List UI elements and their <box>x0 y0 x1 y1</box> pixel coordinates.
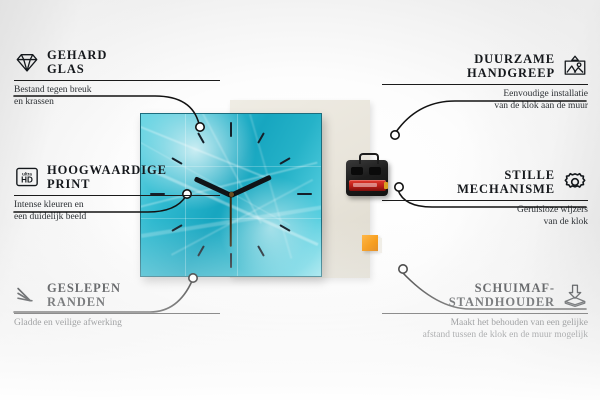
feature-header: DUURZAME HANDGREEP <box>382 52 588 80</box>
clock-hand-second <box>230 195 232 247</box>
feature-gehard-glas: GEHARD GLAS Bestand tegen breuk en krass… <box>14 48 220 108</box>
feature-desc: en krassen <box>14 97 220 109</box>
foam-spacer-side <box>378 238 382 253</box>
feature-desc: van de klok <box>382 217 588 229</box>
foam-spacer <box>362 235 378 251</box>
clock-tick <box>230 122 232 137</box>
feature-desc: Maakt het behouden van een gelijke <box>382 318 588 330</box>
feature-desc: Bestand tegen breuk <box>14 85 220 97</box>
battery-label <box>353 183 377 187</box>
feature-header: GESLEPEN RANDEN <box>14 281 220 309</box>
feature-title: HOOGWAARDIGE PRINT <box>47 163 167 191</box>
spacer-press-icon <box>562 283 588 307</box>
feature-title: GEHARD GLAS <box>47 48 107 76</box>
feature-title: STILLE MECHANISME <box>457 168 555 196</box>
feature-schuimafstandhouder: SCHUIMAF- STANDHOUDER Maakt het behouden… <box>382 281 588 341</box>
feature-desc: een duidelijk beeld <box>14 212 220 224</box>
feature-desc: Gladde en veilige afwerking <box>14 318 220 330</box>
divider <box>382 313 588 314</box>
movement-slot <box>351 167 363 175</box>
feature-title: SCHUIMAF- STANDHOUDER <box>449 281 555 309</box>
clock-tick <box>197 245 205 256</box>
feature-header: GEHARD GLAS <box>14 48 220 76</box>
battery <box>349 180 386 191</box>
svg-text:HD: HD <box>21 176 33 185</box>
clock-tick <box>279 157 290 165</box>
feature-desc: afstand tussen de klok en de muur mogeli… <box>382 330 588 342</box>
feature-stille-mechanisme: STILLE MECHANISME Geruisloze wijzers van… <box>382 168 588 228</box>
clock-tick <box>257 132 265 143</box>
clock-center-hub <box>229 192 234 197</box>
feature-title: DUURZAME HANDGREEP <box>467 52 555 80</box>
feature-geslepen-randen: GESLEPEN RANDEN Gladde en veilige afwerk… <box>14 281 220 330</box>
divider <box>14 195 220 196</box>
gear-icon <box>562 170 588 194</box>
connector-dot-duurzame-handgreep <box>391 131 399 139</box>
infographic-canvas: GEHARD GLAS Bestand tegen breuk en krass… <box>0 0 600 400</box>
divider <box>14 313 220 314</box>
feature-desc: van de klok aan de muur <box>382 101 588 113</box>
beveled-edges-icon <box>14 283 40 307</box>
diamond-icon <box>14 50 40 74</box>
ultra-hd-icon: ultra HD <box>14 165 40 189</box>
connector-dot-schuimafstandhouder <box>399 265 407 273</box>
picture-frame-icon <box>562 54 588 78</box>
clock-tick <box>257 245 265 256</box>
feature-header: SCHUIMAF- STANDHOUDER <box>382 281 588 309</box>
feature-desc: Intense kleuren en <box>14 200 220 212</box>
feature-hoogwaardige-print: ultra HD HOOGWAARDIGE PRINT Intense kleu… <box>14 163 220 223</box>
divider <box>382 200 588 201</box>
feature-desc: Geruisloze wijzers <box>382 205 588 217</box>
divider <box>14 80 220 81</box>
divider <box>382 84 588 85</box>
feature-desc: Eenvoudige installatie <box>382 89 588 101</box>
movement-hanger <box>359 153 379 164</box>
feature-header: ultra HD HOOGWAARDIGE PRINT <box>14 163 220 191</box>
clock-tick <box>230 253 232 268</box>
feature-header: STILLE MECHANISME <box>382 168 588 196</box>
feature-title: GESLEPEN RANDEN <box>47 281 121 309</box>
clock-tick <box>297 193 312 195</box>
clock-tick <box>197 132 205 143</box>
movement-slot <box>369 167 381 175</box>
feature-duurzame-handgreep: DUURZAME HANDGREEP Eenvoudige installati… <box>382 52 588 112</box>
